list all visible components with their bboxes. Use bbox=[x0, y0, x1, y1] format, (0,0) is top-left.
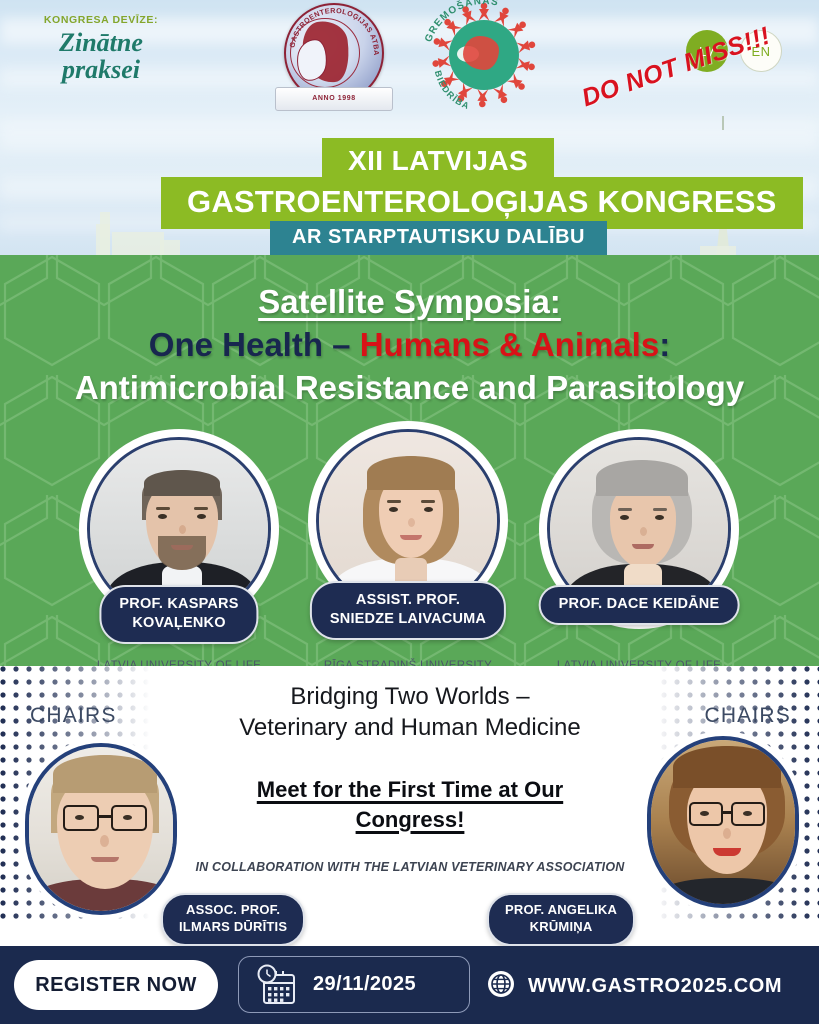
chair-card-left bbox=[18, 743, 184, 915]
symposia-title: Satellite Symposia: bbox=[0, 283, 819, 321]
chair-right-name-line-1: PROF. ANGELIKA bbox=[505, 902, 617, 919]
symposia-topic: Antimicrobial Resistance and Parasitolog… bbox=[0, 369, 819, 407]
register-now-button[interactable]: REGISTER NOW bbox=[14, 960, 218, 1010]
symposia-dash: – bbox=[332, 326, 360, 363]
motto-kicker: KONGRESA DEVĪZE: bbox=[26, 14, 176, 26]
chair-photo-angelika-krumina bbox=[647, 736, 799, 908]
speaker-name-line-1: PROF. DACE KEIDĀNE bbox=[559, 595, 720, 614]
header-sky-banner: KONGRESA DEVĪZE: Zinātne praksei GASTROE… bbox=[0, 0, 819, 258]
logo-anno-text: ANNO 1998 bbox=[276, 88, 392, 110]
congress-subtitle: AR STARPTAUTISKU DALĪBU bbox=[270, 221, 607, 256]
speaker-name-line-1: ASSIST. PROF. bbox=[330, 591, 486, 610]
chairs-label-right: CHAIRS bbox=[704, 704, 791, 728]
congress-motto: KONGRESA DEVĪZE: Zinātne praksei bbox=[26, 14, 176, 84]
gremosanas-slimibu-biedriba-logo: GREMOŠANAS BIEDRĪBA bbox=[418, 0, 550, 118]
svg-text:GASTROENTEROLOĢIJAS ATBALSTA B: GASTROENTEROLOĢIJAS ATBALSTA BIEDRĪBA bbox=[284, 3, 381, 56]
emphasis-line-2: Congress! bbox=[180, 805, 640, 834]
footer-bar: REGISTER NOW bbox=[0, 946, 819, 1024]
congress-date-box: 29/11/2025 bbox=[238, 956, 470, 1013]
speaker-name-badge: ASSIST. PROF. SNIEDZE LAIVACUMA bbox=[310, 581, 506, 640]
chair-name-badge-left: ASSOC. PROF. ILMARS DŪRĪTIS bbox=[161, 893, 305, 946]
collaboration-note: IN COLLABORATION WITH THE LATVIAN VETERI… bbox=[180, 860, 640, 874]
logo-ring-people-and-text: GREMOŠANAS BIEDRĪBA bbox=[418, 0, 550, 118]
speaker-name-badge: PROF. DACE KEIDĀNE bbox=[539, 585, 740, 625]
logo-ribbon: ANNO 1998 bbox=[275, 87, 393, 111]
chair-left-name-line-2: ILMARS DŪRĪTIS bbox=[179, 919, 287, 936]
speaker-name-line-1: PROF. KASPARS bbox=[119, 595, 238, 614]
symposia-green-section: Satellite Symposia: One Health – Humans … bbox=[0, 255, 819, 680]
speaker-card: PROF. DACE KEIDĀNE LATVIA UNIVERSITY OF … bbox=[528, 437, 750, 621]
speaker-card: PROF. KASPARS KOVAĻENKO LATVIA UNIVERSIT… bbox=[68, 437, 290, 621]
svg-text:GREMOŠANAS: GREMOŠANAS bbox=[423, 0, 500, 44]
meet-first-time-emphasis: Meet for the First Time at Our Congress! bbox=[180, 775, 640, 834]
symposia-colon: : bbox=[659, 326, 670, 363]
congress-date: 29/11/2025 bbox=[313, 973, 416, 996]
bridging-headline: Bridging Two Worlds – Veterinary and Hum… bbox=[180, 682, 640, 743]
gastroenterologijas-atbalsta-biedriba-logo: GASTROENTEROLOĢIJAS ATBALSTA BIEDRĪBA AN… bbox=[275, 3, 393, 113]
symposia-subtitle: One Health – Humans & Animals: bbox=[0, 326, 819, 364]
motto-line-2: praksei bbox=[26, 56, 176, 83]
speaker-name-line-2: SNIEDZE LAIVACUMA bbox=[330, 610, 486, 629]
speakers-row: PROF. KASPARS KOVAĻENKO LATVIA UNIVERSIT… bbox=[0, 437, 819, 677]
speaker-card: ASSIST. PROF. SNIEDZE LAIVACUMA RĪGA STR… bbox=[297, 429, 519, 613]
speaker-name-line-2: KOVAĻENKO bbox=[119, 614, 238, 633]
symposia-humans-animals: Humans & Animals bbox=[360, 326, 660, 363]
chair-right-name-line-2: KRŪMIŅA bbox=[505, 919, 617, 936]
calendar-clock-icon bbox=[255, 964, 301, 1006]
bridging-headline-line-2: Veterinary and Human Medicine bbox=[180, 713, 640, 744]
middle-section: CHAIRS CHAIRS Bridging Two Worlds – Vete… bbox=[0, 666, 819, 948]
website-url[interactable]: WWW.GASTRO2025.COM bbox=[528, 975, 782, 998]
chair-name-badge-right: PROF. ANGELIKA KRŪMIŅA bbox=[487, 893, 635, 946]
chair-photo-ilmars-duritis bbox=[25, 743, 177, 915]
globe-icon bbox=[487, 970, 515, 1003]
symposia-one-health: One Health bbox=[149, 326, 332, 363]
chairs-label-left: CHAIRS bbox=[30, 704, 117, 728]
speaker-name-badge: PROF. KASPARS KOVAĻENKO bbox=[99, 585, 258, 644]
bridging-headline-line-1: Bridging Two Worlds – bbox=[180, 682, 640, 713]
chair-card-right bbox=[640, 736, 806, 908]
symposia-heading: Satellite Symposia: One Health – Humans … bbox=[0, 283, 819, 407]
chair-left-name-line-1: ASSOC. PROF. bbox=[179, 902, 287, 919]
website-link[interactable]: WWW.GASTRO2025.COM bbox=[487, 970, 782, 1003]
middle-text-block: Bridging Two Worlds – Veterinary and Hum… bbox=[180, 682, 640, 874]
poster-root: KONGRESA DEVĪZE: Zinātne praksei GASTROE… bbox=[0, 0, 819, 1024]
motto-line-1: Zinātne bbox=[26, 29, 176, 56]
emphasis-line-1: Meet for the First Time at Our bbox=[180, 775, 640, 804]
